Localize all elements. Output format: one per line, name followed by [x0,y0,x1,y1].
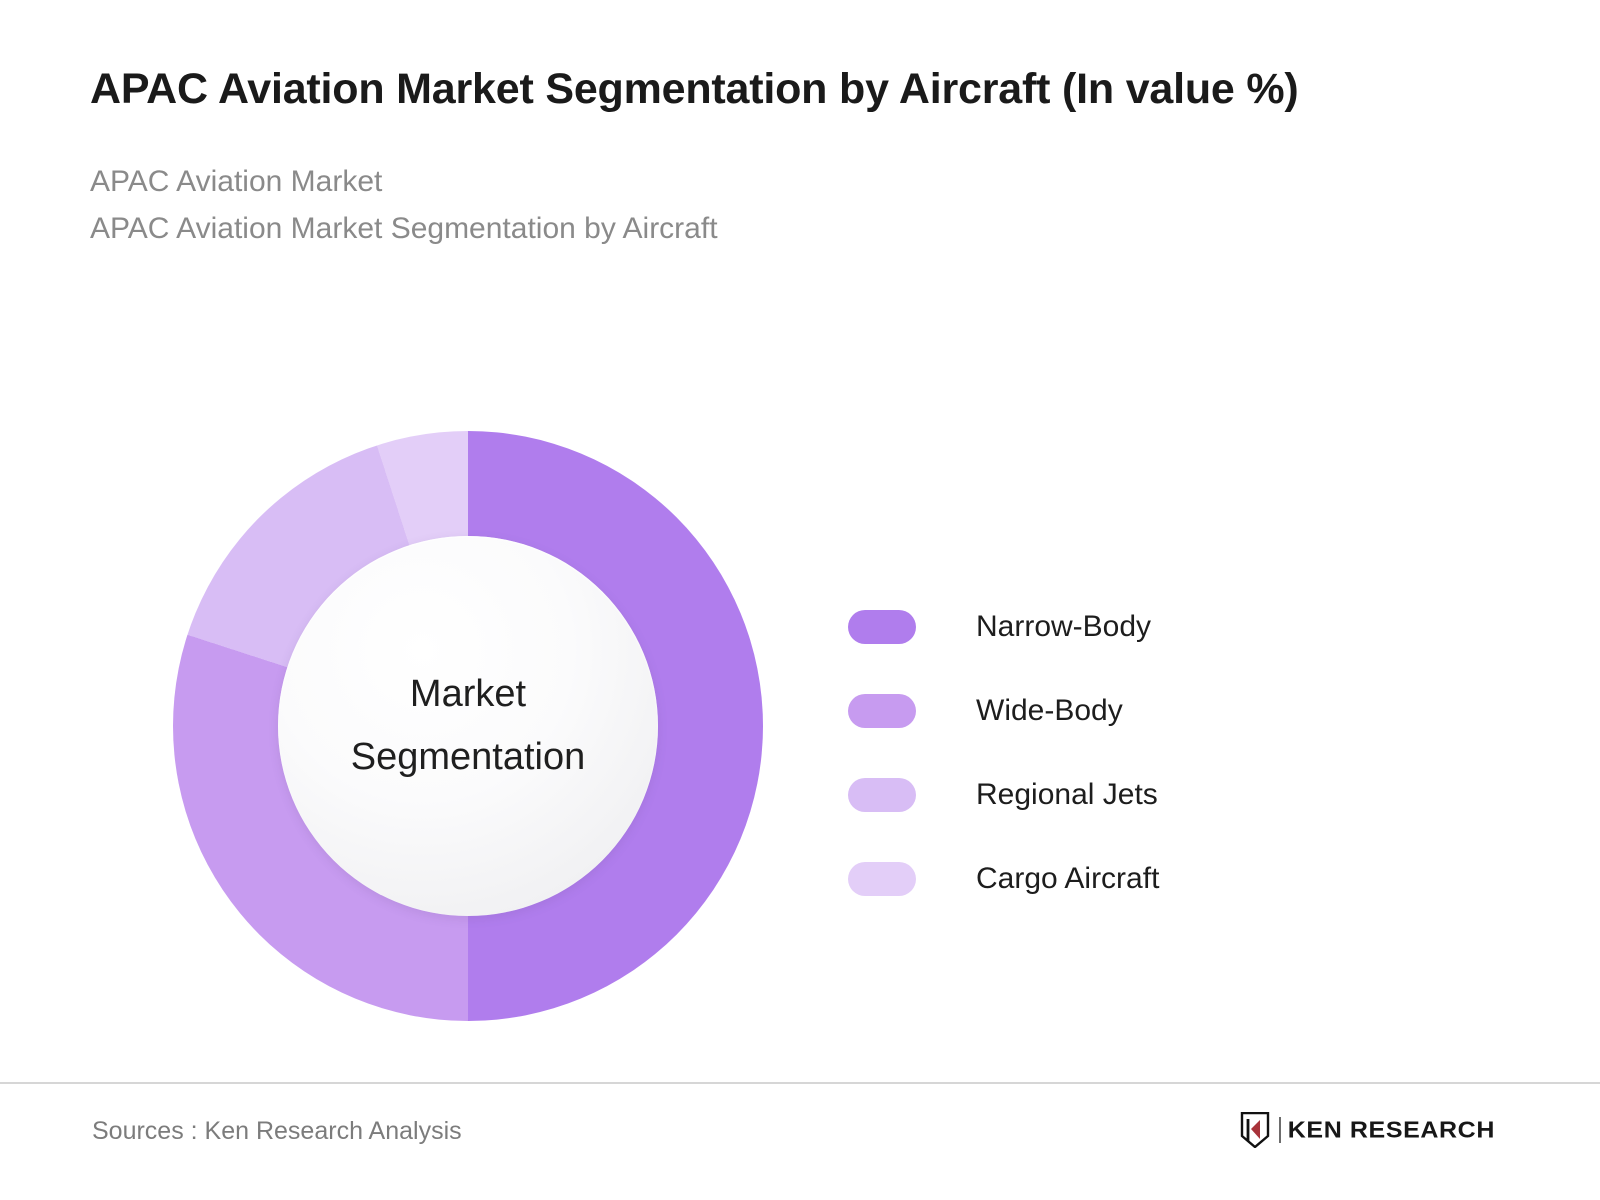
legend-item[interactable]: Cargo Aircraft [848,837,1348,921]
footer: Sources : Ken Research Analysis KEN RESE… [0,1082,1600,1200]
legend-label: Wide-Body [976,694,1123,728]
donut-center-line-1: Market [410,663,526,726]
legend-swatch [848,694,916,728]
page-title: APAC Aviation Market Segmentation by Air… [90,62,1450,117]
subtitle-market: APAC Aviation Market [90,159,1480,206]
legend-label: Regional Jets [976,778,1158,812]
legend-item[interactable]: Regional Jets [848,753,1348,837]
legend-swatch [848,778,916,812]
chart-area: Market Segmentation Narrow-BodyWide-Body… [0,390,1600,1050]
donut-center-hole: Market Segmentation [278,536,658,916]
chart-page: APAC Aviation Market Segmentation by Air… [0,0,1600,1200]
ken-research-logo: KEN RESEARCH [1240,1110,1495,1150]
legend-item[interactable]: Narrow-Body [848,585,1348,669]
header: APAC Aviation Market Segmentation by Air… [90,62,1480,252]
legend-swatch [848,610,916,644]
legend-label: Narrow-Body [976,610,1151,644]
subtitle-group: APAC Aviation Market APAC Aviation Marke… [90,159,1480,252]
subtitle-segmentation: APAC Aviation Market Segmentation by Air… [90,206,1480,253]
legend-swatch [848,862,916,896]
brand-name: KEN RESEARCH [1288,1117,1495,1144]
donut-center-line-2: Segmentation [351,726,586,789]
logo-divider [1279,1117,1281,1143]
legend-label: Cargo Aircraft [976,862,1159,896]
sources-text: Sources : Ken Research Analysis [92,1117,462,1146]
legend-item[interactable]: Wide-Body [848,669,1348,753]
ken-research-k-mark-icon [1240,1112,1270,1148]
chart-legend: Narrow-BodyWide-BodyRegional JetsCargo A… [848,585,1348,921]
donut-chart: Market Segmentation [173,431,763,1021]
